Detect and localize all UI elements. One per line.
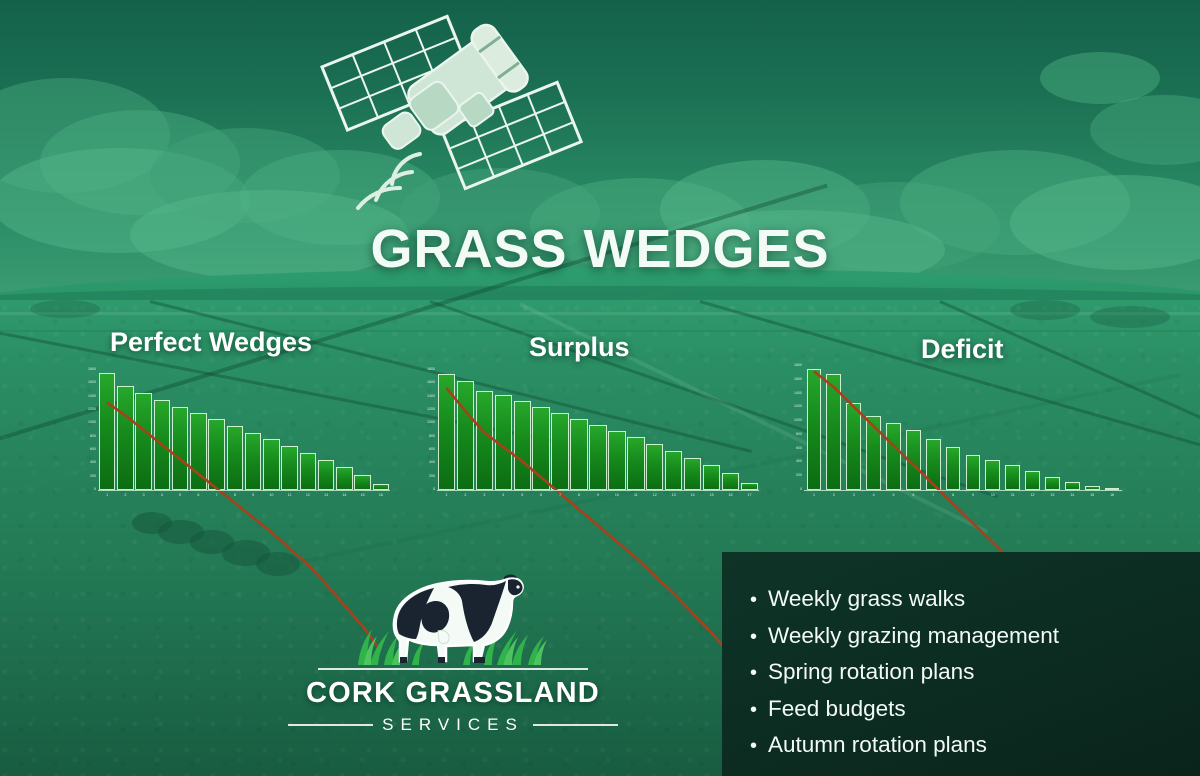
x-axis-surplus: 1234567891011121314151617 [437,490,759,508]
bar [551,413,568,490]
x-axis-tick: 16 [1102,491,1122,508]
bar [722,473,739,490]
service-label: Feed budgets [768,696,906,722]
y-axis-perfect: 020040060080010001200140016001800 [76,370,98,490]
bar [826,374,841,490]
x-axis-tick: 7 [923,491,943,508]
x-axis-tick: 10 [607,491,626,508]
bar [154,400,171,490]
y-axis-tick: 1400 [427,395,435,399]
x-axis-tick: 8 [226,491,244,508]
y-axis-tick: 1000 [427,422,435,426]
page-title: GRASS WEDGES [0,218,1200,280]
bar [336,467,353,490]
bar [1005,465,1020,490]
x-axis-tick: 11 [1003,491,1023,508]
y-axis-tick: 200 [90,475,96,479]
x-axis-tick: 1 [804,491,824,508]
x-axis-tick: 7 [208,491,226,508]
service-list-item: • Spring rotation plans [750,659,1200,685]
chart-title-perfect-wedges: Perfect Wedges [110,327,312,358]
y-axis-tick: 800 [429,435,435,439]
y-axis-tick: 600 [90,448,96,452]
x-axis-tick: 8 [570,491,589,508]
x-axis-tick: 3 [135,491,153,508]
bar [741,483,758,490]
x-axis-tick: 2 [116,491,134,508]
bar-group-surplus [437,370,759,490]
x-axis-tick: 5 [884,491,904,508]
bar [665,451,682,490]
bar-group-perfect [98,370,390,490]
bullet-icon: • [750,590,757,610]
y-axis-tick: 400 [796,461,802,465]
x-axis-tick: 10 [983,491,1003,508]
bar [1045,477,1060,490]
bar [985,460,1000,490]
y-axis-tick: 400 [90,462,96,466]
bar [457,381,474,490]
bar [627,437,644,490]
x-axis-tick: 16 [721,491,740,508]
x-axis-tick: 13 [317,491,335,508]
bar [846,403,861,490]
y-axis-tick: 0 [433,488,435,492]
bar [227,426,244,490]
x-axis-tick: 12 [299,491,317,508]
x-axis-tick: 5 [171,491,189,508]
bar [886,423,901,491]
y-axis-tick: 1800 [88,368,96,372]
x-axis-tick: 6 [903,491,923,508]
service-label: Autumn rotation plans [768,732,987,758]
y-axis-tick: 1800 [794,364,802,368]
x-axis-tick: 11 [281,491,299,508]
x-axis-tick: 9 [589,491,608,508]
logo-subtitle: SERVICES [382,715,524,735]
x-axis-tick: 4 [494,491,513,508]
bar [646,444,663,490]
bullet-icon: • [750,663,757,683]
bar [926,439,941,490]
service-label: Weekly grazing management [768,623,1059,649]
x-axis-tick: 3 [475,491,494,508]
bar [245,433,262,490]
x-axis-tick: 6 [532,491,551,508]
bar [476,391,493,490]
x-axis-tick: 13 [664,491,683,508]
y-axis-tick: 1600 [427,382,435,386]
bar [135,393,152,490]
x-axis-tick: 3 [844,491,864,508]
service-list-item: • Weekly grass walks [750,586,1200,612]
y-axis-tick: 1800 [427,368,435,372]
x-axis-tick: 6 [189,491,207,508]
bar [208,419,225,490]
bar [703,465,720,490]
service-list-item: • Weekly grazing management [750,623,1200,649]
y-axis-tick: 1000 [88,422,96,426]
bar [99,373,116,490]
chart-title-surplus: Surplus [529,332,630,363]
y-axis-tick: 1000 [794,419,802,423]
x-axis-tick: 14 [683,491,702,508]
x-axis-tick: 1 [437,491,456,508]
y-axis-tick: 200 [796,474,802,478]
logo-name: CORK GRASSLAND [288,677,618,710]
y-axis-tick: 800 [90,435,96,439]
bar [570,419,587,490]
y-axis-tick: 800 [796,433,802,437]
bar [281,446,298,490]
x-axis-tick: 9 [963,491,983,508]
signal-waves-icon [358,154,420,208]
bar [589,425,606,490]
bar [300,453,317,490]
bar [354,475,371,490]
chart-deficit: 020040060080010001200140016001800 123456… [782,362,1122,508]
bar [906,430,921,490]
x-axis-tick: 2 [456,491,475,508]
plot-area-perfect [98,370,390,490]
y-axis-tick: 0 [800,488,802,492]
bar [495,395,512,490]
x-axis-tick: 5 [513,491,532,508]
x-axis-tick: 4 [153,491,171,508]
x-axis-tick: 15 [354,491,372,508]
bar [608,431,625,490]
logo-rule-right [533,724,618,726]
bar [1025,471,1040,490]
poster-canvas: GRASS WEDGES Perfect Wedges Surplus Defi… [0,0,1200,776]
bullet-icon: • [750,700,757,720]
y-axis-tick: 200 [429,475,435,479]
y-axis-tick: 1200 [794,406,802,410]
x-axis-tick: 9 [244,491,262,508]
x-axis-deficit: 12345678910111213141516 [804,490,1122,508]
x-axis-tick: 17 [740,491,759,508]
cloud-shape [1040,52,1160,104]
chart-surplus: 020040060080010001200140016001800 123456… [415,366,759,508]
bar [318,460,335,490]
bar [866,416,881,490]
bar [263,439,280,490]
services-panel: • Weekly grass walks • Weekly grazing ma… [722,552,1200,776]
y-axis-deficit: 020040060080010001200140016001800 [782,366,804,490]
x-axis-tick: 2 [824,491,844,508]
x-axis-perfect: 12345678910111213141516 [98,490,390,508]
y-axis-tick: 1200 [88,408,96,412]
bar [190,413,207,490]
x-axis-tick: 14 [335,491,353,508]
y-axis-tick: 600 [796,447,802,451]
bar [1065,482,1080,490]
bar [807,369,822,490]
x-axis-tick: 10 [262,491,280,508]
y-axis-surplus: 020040060080010001200140016001800 [415,370,437,490]
x-axis-tick: 11 [626,491,645,508]
bar [117,386,134,490]
y-axis-tick: 1200 [427,408,435,412]
x-axis-tick: 4 [864,491,884,508]
chart-title-deficit: Deficit [921,334,1004,365]
bar [532,407,549,490]
x-axis-tick: 15 [1082,491,1102,508]
plot-area-deficit [804,366,1122,490]
hedgerow [30,300,100,318]
y-axis-tick: 0 [94,488,96,492]
bullet-icon: • [750,627,757,647]
x-axis-tick: 7 [551,491,570,508]
bar [514,401,531,490]
bar [946,447,961,490]
bar [438,374,455,490]
service-list-item: • Autumn rotation plans [750,732,1200,758]
plot-area-surplus [437,370,759,490]
y-axis-tick: 1400 [88,395,96,399]
service-label: Spring rotation plans [768,659,974,685]
logo: CORK GRASSLAND SERVICES [288,565,618,740]
y-axis-tick: 1400 [794,392,802,396]
x-axis-tick: 13 [1043,491,1063,508]
x-axis-tick: 15 [702,491,721,508]
bullet-icon: • [750,736,757,756]
y-axis-tick: 1600 [794,378,802,382]
y-axis-tick: 400 [429,462,435,466]
y-axis-tick: 600 [429,448,435,452]
satellite-illustration [300,2,590,212]
chart-perfect-wedges: 020040060080010001200140016001800 123456… [76,366,390,508]
bar [684,458,701,490]
bar [172,407,189,490]
x-axis-tick: 16 [372,491,390,508]
bar [966,455,981,490]
logo-rule-left [288,724,373,726]
service-list-item: • Feed budgets [750,696,1200,722]
x-axis-tick: 8 [943,491,963,508]
x-axis-tick: 14 [1062,491,1082,508]
logo-subtitle-row: SERVICES [288,715,618,735]
service-label: Weekly grass walks [768,586,965,612]
bar-group-deficit [804,366,1122,490]
hedgerow [1010,300,1080,320]
x-axis-tick: 12 [645,491,664,508]
x-axis-tick: 12 [1023,491,1043,508]
hedgerow [1090,306,1170,328]
y-axis-tick: 1600 [88,382,96,386]
x-axis-tick: 1 [98,491,116,508]
